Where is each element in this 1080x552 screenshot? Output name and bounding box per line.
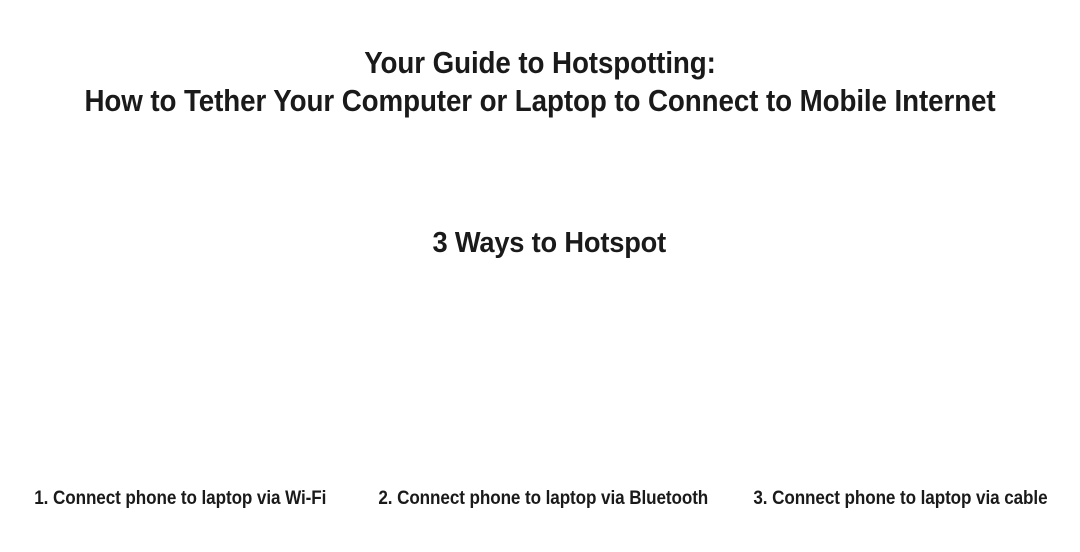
method-caption-3: 3. Connect phone to laptop via cable (753, 487, 1047, 511)
title-line-1: Your Guide to Hotspotting: (57, 44, 1024, 82)
section-heading: 3 Ways to Hotspot (0, 225, 1080, 261)
illustration-slot-wifi (0, 272, 360, 478)
method-caption-1: 1. Connect phone to laptop via Wi-Fi (34, 487, 326, 511)
infographic-page: Your Guide to Hotspotting: How to Tether… (0, 0, 1080, 552)
section-heading-text: 3 Ways to Hotspot (432, 225, 666, 261)
method-item-3: 3. Connect phone to laptop via cable (720, 487, 1080, 511)
method-item-1: 1. Connect phone to laptop via Wi-Fi (0, 487, 360, 511)
illustration-band (0, 272, 1080, 478)
method-caption-row: 1. Connect phone to laptop via Wi-Fi 2. … (0, 487, 1080, 515)
illustration-slot-cable (720, 272, 1080, 478)
method-caption-2: 2. Connect phone to laptop via Bluetooth (378, 487, 708, 511)
illustration-slot-bluetooth (360, 272, 720, 478)
page-title: Your Guide to Hotspotting: How to Tether… (0, 44, 1080, 120)
method-item-2: 2. Connect phone to laptop via Bluetooth (360, 487, 720, 511)
title-line-2: How to Tether Your Computer or Laptop to… (57, 82, 1024, 120)
